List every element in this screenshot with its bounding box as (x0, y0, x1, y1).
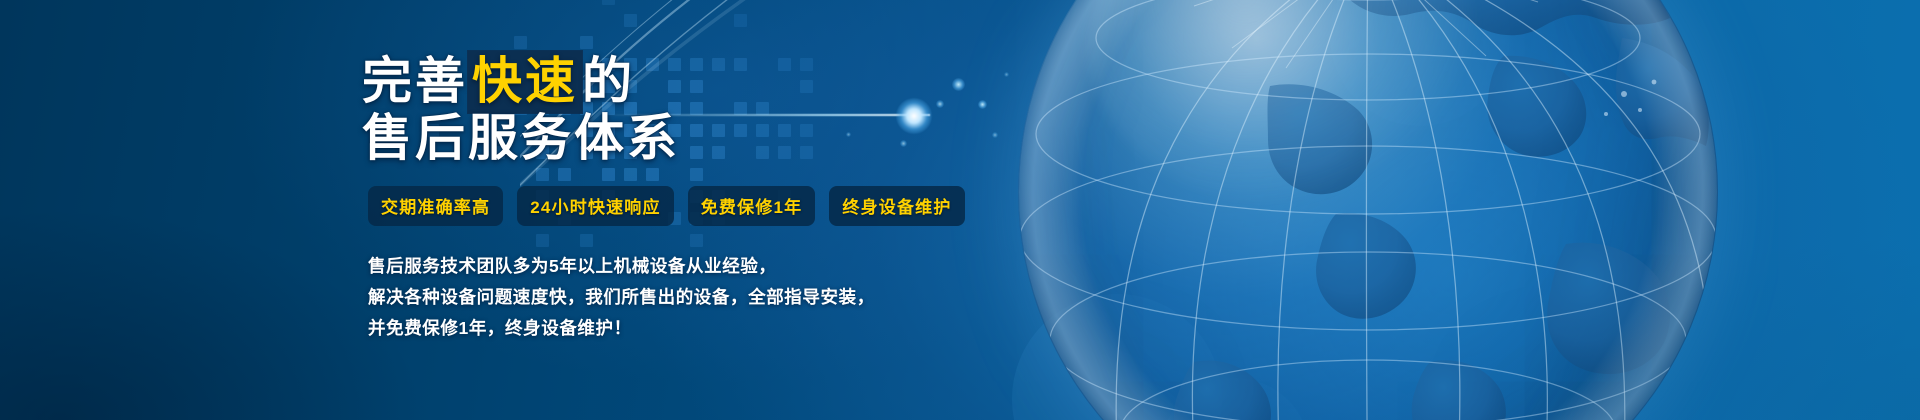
banner-content: 完善快速的 售后服务体系 交期准确率高 24小时快速响应 免费保修1年 终身设备… (362, 56, 1082, 344)
description-paragraph: 售后服务技术团队多为5年以上机械设备从业经验， 解决各种设备问题速度快，我们所售… (368, 251, 1082, 344)
badge-list: 交期准确率高 24小时快速响应 免费保修1年 终身设备维护 (368, 186, 1082, 226)
headline-line-1: 完善快速的 (362, 56, 1082, 107)
globe-graphic (1018, 0, 1718, 420)
description-line-3: 并免费保修1年，终身设备维护！ (368, 313, 1082, 344)
badge-lifetime-maintenance[interactable]: 终身设备维护 (829, 186, 964, 226)
headline-text-accent: 快速 (468, 51, 582, 113)
service-banner: 完善快速的 售后服务体系 交期准确率高 24小时快速响应 免费保修1年 终身设备… (0, 0, 1920, 420)
headline-line-2: 售后服务体系 (362, 113, 1082, 164)
badge-24h-response[interactable]: 24小时快速响应 (517, 186, 674, 226)
headline: 完善快速的 售后服务体系 (362, 56, 1082, 164)
description-line-2: 解决各种设备问题速度快，我们所售出的设备，全部指导安装， (368, 282, 1082, 313)
description-line-1: 售后服务技术团队多为5年以上机械设备从业经验， (368, 251, 1082, 282)
badge-free-warranty[interactable]: 免费保修1年 (688, 186, 816, 226)
headline-text-suffix: 的 (582, 53, 635, 109)
badge-delivery-accuracy[interactable]: 交期准确率高 (368, 186, 503, 226)
headline-text-primary: 完善 (362, 53, 468, 109)
